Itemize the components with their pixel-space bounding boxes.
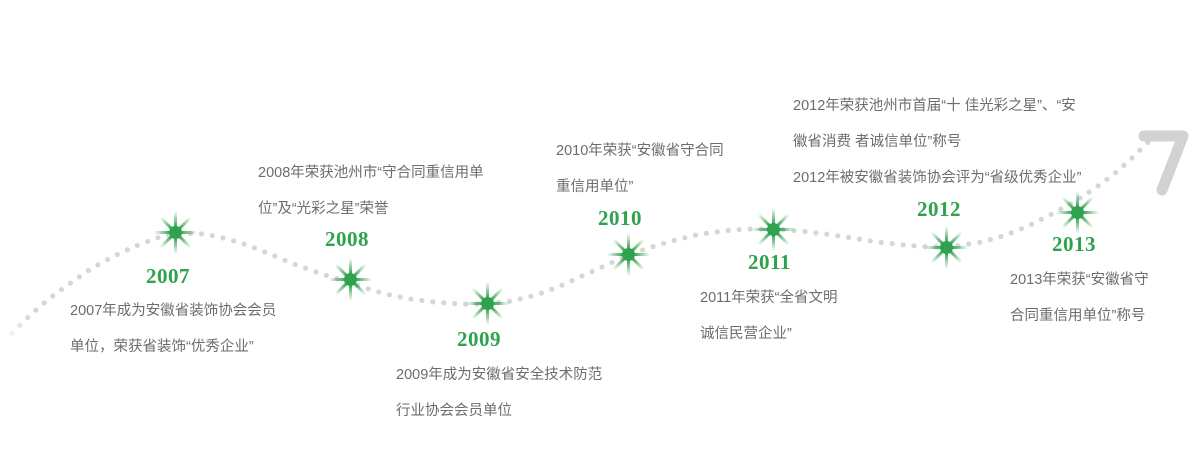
year-label-2007: 2007 <box>146 264 190 289</box>
path-dot <box>125 247 130 252</box>
milestone-star-icon-2010[interactable] <box>606 232 650 276</box>
path-dot <box>115 252 120 257</box>
description-line: 2007年成为安徽省装饰协会会员 <box>70 293 276 329</box>
path-dot <box>313 269 318 274</box>
path-dot <box>1129 155 1134 160</box>
path-dot <box>262 249 267 254</box>
path-dot <box>857 237 862 242</box>
milestone-description-2008: 2008年荣获池州市“守合同重信用单位”及“光彩之星”荣誉 <box>258 155 484 227</box>
description-line: 2013年荣获“安徽省守 <box>1010 262 1149 298</box>
path-dot <box>579 273 584 278</box>
path-dot <box>9 330 14 335</box>
path-dot <box>231 238 236 243</box>
path-dot <box>1113 170 1118 175</box>
milestone-star-icon-2007[interactable] <box>153 210 197 254</box>
milestone-description-2012: 2012年荣获池州市首届“十 佳光彩之星”、“安徽省消费 者诚信单位”称号201… <box>793 88 1081 196</box>
path-dot <box>682 235 687 240</box>
path-dot <box>715 229 720 234</box>
path-dot <box>282 258 287 263</box>
path-dot <box>998 234 1003 239</box>
path-dot <box>86 268 91 273</box>
path-dot <box>661 241 666 246</box>
path-dot <box>272 254 277 259</box>
path-dot <box>549 287 554 292</box>
path-dot <box>68 281 73 286</box>
year-label-2008: 2008 <box>325 227 369 252</box>
path-dot <box>977 240 982 245</box>
description-line: 徽省消费 者诚信单位”称号 <box>793 124 1081 160</box>
path-dot <box>59 287 64 292</box>
path-dot <box>569 278 574 283</box>
path-dot <box>1104 177 1109 182</box>
path-dot <box>42 300 47 305</box>
path-dot <box>693 233 698 238</box>
path-dot <box>95 262 100 267</box>
path-dot <box>398 294 403 299</box>
path-dot <box>528 294 533 299</box>
path-dot <box>1049 212 1054 217</box>
path-dot <box>293 262 298 267</box>
path-dot <box>135 243 140 248</box>
year-label-2010: 2010 <box>598 206 642 231</box>
path-dot <box>376 289 381 294</box>
path-dot <box>726 228 731 233</box>
path-dot <box>220 235 225 240</box>
path-dot <box>589 269 594 274</box>
path-dot <box>77 274 82 279</box>
path-dot <box>430 299 435 304</box>
path-dot <box>50 293 55 298</box>
path-dot <box>199 231 204 236</box>
milestone-description-2010: 2010年荣获“安徽省守合同重信用单位” <box>556 133 724 205</box>
path-dot <box>813 230 818 235</box>
description-line: 2010年荣获“安徽省守合同 <box>556 133 724 169</box>
milestone-star-icon-2011[interactable] <box>751 207 795 251</box>
description-line: 2008年荣获池州市“守合同重信用单 <box>258 155 484 191</box>
path-dot <box>419 298 424 303</box>
description-line: 重信用单位” <box>556 169 724 205</box>
path-dot <box>452 301 457 306</box>
year-label-2011: 2011 <box>748 250 791 275</box>
path-dot <box>672 238 677 243</box>
path-dot <box>559 283 564 288</box>
year-label-2012: 2012 <box>917 197 961 222</box>
timeline-infographic: 20072007年成为安徽省装饰协会会员单位，荣获省装饰“优秀企业”200820… <box>0 0 1200 465</box>
milestone-description-2007: 2007年成为安徽省装饰协会会员单位，荣获省装饰“优秀企业” <box>70 293 276 365</box>
path-dot <box>441 300 446 305</box>
path-dot <box>704 231 709 236</box>
milestone-description-2013: 2013年荣获“安徽省守合同重信用单位”称号 <box>1010 262 1149 334</box>
path-dot <box>105 257 110 262</box>
path-dot <box>911 243 916 248</box>
path-dot <box>242 242 247 247</box>
arrow-head-seven-icon <box>1138 126 1192 198</box>
path-dot <box>539 290 544 295</box>
path-dot <box>1039 217 1044 222</box>
description-line: 2009年成为安徽省安全技术防范 <box>396 357 602 393</box>
path-dot <box>25 315 30 320</box>
path-dot <box>387 292 392 297</box>
description-line: 诚信民营企业” <box>700 316 838 352</box>
milestone-star-icon-2013[interactable] <box>1055 190 1099 234</box>
path-dot <box>879 240 884 245</box>
path-dot <box>518 296 523 301</box>
path-dot <box>846 235 851 240</box>
milestone-description-2009: 2009年成为安徽省安全技术防范行业协会会员单位 <box>396 357 602 429</box>
path-dot <box>1121 163 1126 168</box>
milestone-description-2011: 2011年荣获“全省文明诚信民营企业” <box>700 280 838 352</box>
path-dot <box>890 241 895 246</box>
description-line: 2012年荣获池州市首届“十 佳光彩之星”、“安 <box>793 88 1081 124</box>
year-label-2009: 2009 <box>457 327 501 352</box>
path-dot <box>408 297 413 302</box>
path-dot <box>1009 230 1014 235</box>
description-line: 2011年荣获“全省文明 <box>700 280 838 316</box>
path-dot <box>145 239 150 244</box>
path-dot <box>824 232 829 237</box>
description-line: 合同重信用单位”称号 <box>1010 298 1149 334</box>
path-dot <box>1096 183 1101 188</box>
path-dot <box>17 323 22 328</box>
path-dot <box>802 229 807 234</box>
path-dot <box>33 307 38 312</box>
path-dot <box>868 238 873 243</box>
path-dot <box>1029 222 1034 227</box>
path-dot <box>210 233 215 238</box>
milestone-star-icon-2009[interactable] <box>465 281 509 325</box>
path-dot <box>901 242 906 247</box>
path-dot <box>650 244 655 249</box>
year-label-2013: 2013 <box>1052 232 1096 257</box>
path-dot <box>988 237 993 242</box>
milestone-star-icon-2008[interactable] <box>328 257 372 301</box>
description-line: 位”及“光彩之星”荣誉 <box>258 191 484 227</box>
description-line: 单位，荣获省装饰“优秀企业” <box>70 329 276 365</box>
path-dot <box>737 227 742 232</box>
path-dot <box>252 245 257 250</box>
path-dot <box>835 233 840 238</box>
description-line: 2012年被安徽省装饰协会评为“省级优秀企业” <box>793 160 1081 196</box>
milestone-star-icon-2012[interactable] <box>924 225 968 269</box>
description-line: 行业协会会员单位 <box>396 393 602 429</box>
path-dot <box>599 264 604 269</box>
path-dot <box>303 266 308 271</box>
path-dot <box>1019 226 1024 231</box>
